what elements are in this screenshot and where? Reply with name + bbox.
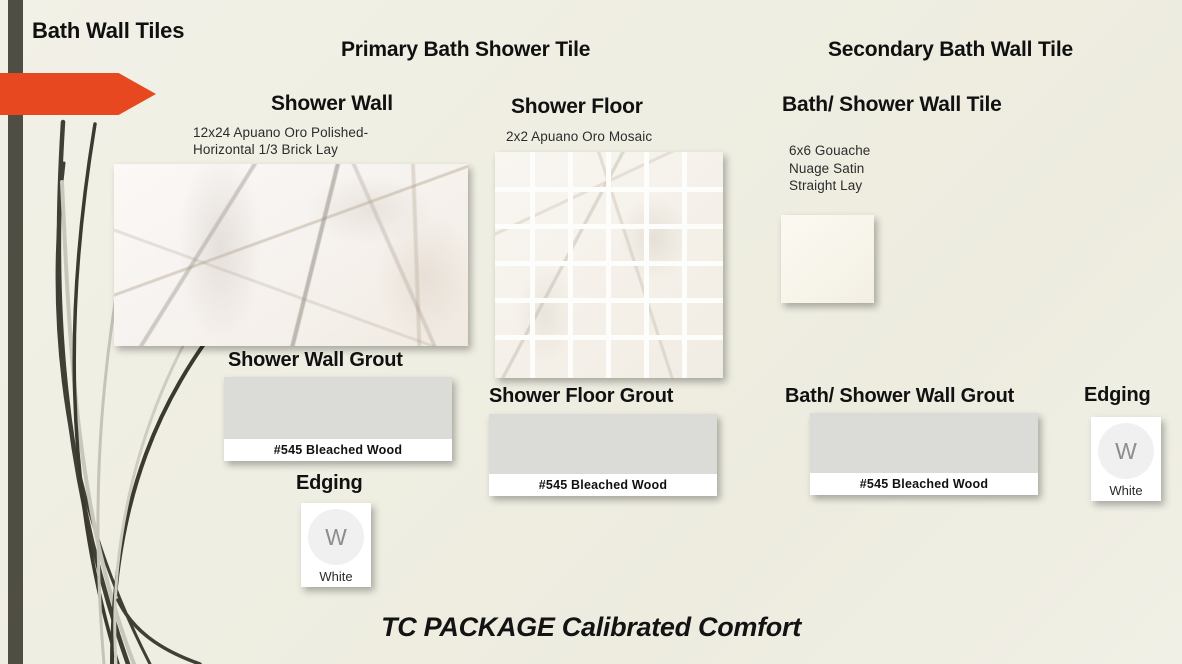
- label-shower-floor: Shower Floor: [511, 95, 643, 119]
- spec-shower-floor: 2x2 Apuano Oro Mosaic: [506, 128, 652, 145]
- swatch-shower-wall-tile: [114, 164, 468, 346]
- swatch-shower-floor-mosaic: [495, 152, 723, 378]
- edging-initial-badge: W: [308, 509, 364, 565]
- label-edging-secondary: Edging: [1084, 384, 1151, 407]
- swatch-bath-shower-wall-grout: #545 Bleached Wood: [810, 413, 1038, 495]
- footer-package-title: TC PACKAGE Calibrated Comfort: [0, 612, 1182, 643]
- label-bath-shower-wall-grout: Bath/ Shower Wall Grout: [785, 385, 1014, 408]
- grout-color-chip: [489, 414, 717, 474]
- label-bath-shower-wall-tile: Bath/ Shower Wall Tile: [782, 93, 1002, 117]
- grout-caption: #545 Bleached Wood: [224, 439, 452, 461]
- grout-color-chip: [224, 377, 452, 439]
- label-shower-floor-grout: Shower Floor Grout: [489, 385, 673, 408]
- grout-color-chip: [810, 413, 1038, 473]
- edging-color-name: White: [319, 569, 352, 584]
- grout-caption: #545 Bleached Wood: [810, 473, 1038, 495]
- edging-initial-badge: W: [1098, 423, 1154, 479]
- swatch-edging-primary: W White: [301, 503, 371, 587]
- mosaic-grout-grid: [495, 152, 723, 378]
- edging-color-name: White: [1109, 483, 1142, 498]
- spec-shower-wall: 12x24 Apuano Oro Polished- Horizontal 1/…: [193, 124, 368, 158]
- section-heading-secondary: Secondary Bath Wall Tile: [828, 38, 1073, 62]
- label-shower-wall-grout: Shower Wall Grout: [228, 349, 403, 372]
- spec-bath-shower-wall-tile: 6x6 Gouache Nuage Satin Straight Lay: [789, 142, 870, 195]
- label-shower-wall: Shower Wall: [271, 92, 393, 116]
- section-heading-primary: Primary Bath Shower Tile: [341, 38, 590, 62]
- swatch-edging-secondary: W White: [1091, 417, 1161, 501]
- label-edging-primary: Edging: [296, 472, 363, 495]
- slide-canvas: Bath Wall Tiles Primary Bath Shower Tile…: [0, 0, 1182, 664]
- page-title: Bath Wall Tiles: [32, 18, 184, 44]
- grout-caption: #545 Bleached Wood: [489, 474, 717, 496]
- swatch-gouache-tile: [781, 215, 874, 303]
- swatch-shower-wall-grout: #545 Bleached Wood: [224, 377, 452, 461]
- swatch-shower-floor-grout: #545 Bleached Wood: [489, 414, 717, 496]
